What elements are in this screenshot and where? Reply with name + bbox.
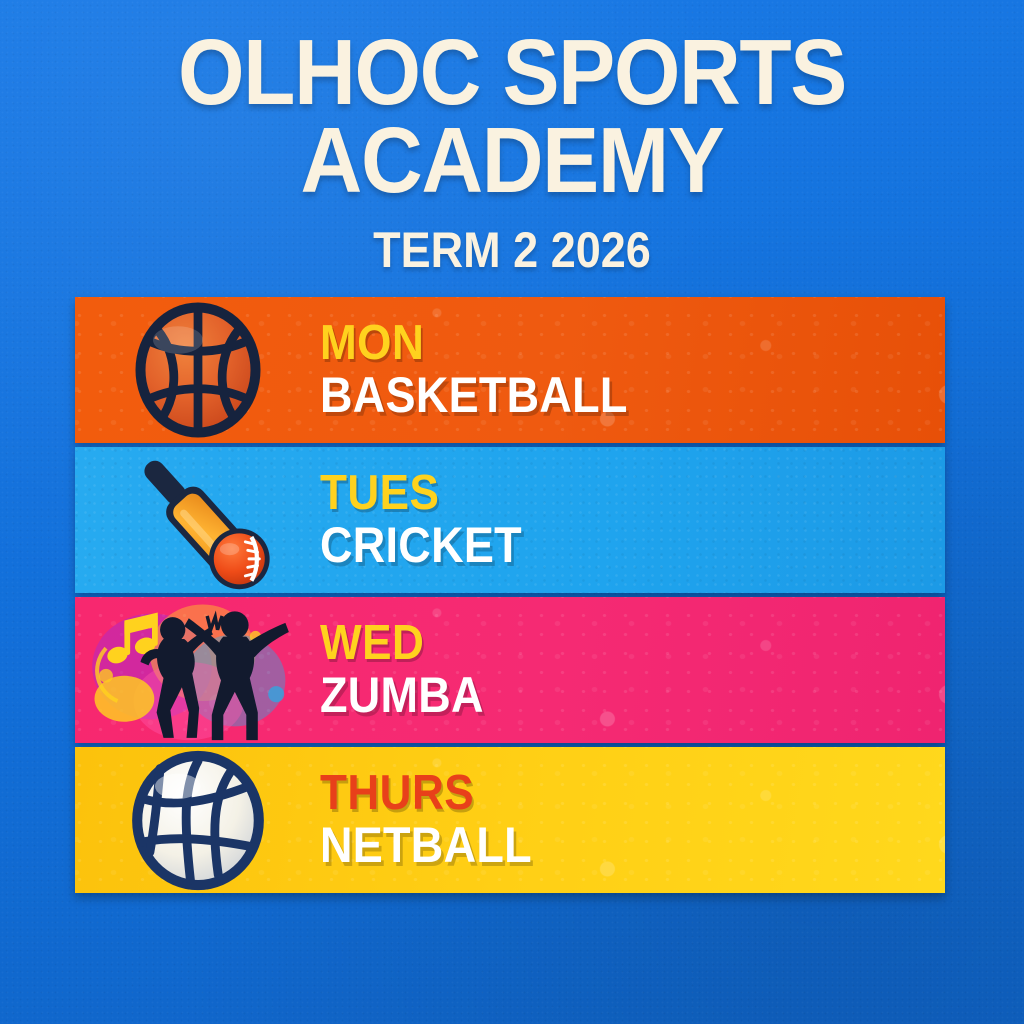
schedule-labels-monday: MON BASKETBALL	[320, 319, 662, 422]
page-title: OLHOC SPORTS ACADEMY	[41, 28, 983, 205]
sport-label: NETBALL	[320, 820, 532, 871]
schedule-list: MON BASKETBALL	[75, 297, 945, 897]
day-label: WED	[320, 619, 484, 669]
basketball-icon	[75, 297, 320, 443]
schedule-row-monday[interactable]: MON BASKETBALL	[75, 297, 945, 443]
schedule-labels-wednesday: WED ZUMBA	[320, 619, 502, 722]
cricket-bat-and-ball-icon	[75, 447, 320, 593]
sport-label: BASKETBALL	[320, 370, 628, 421]
schedule-labels-thursday: THURS NETBALL	[320, 769, 555, 872]
schedule-labels-tuesday: TUES CRICKET	[320, 469, 544, 572]
day-label: MON	[320, 319, 628, 369]
schedule-row-thursday[interactable]: THURS NETBALL	[75, 747, 945, 893]
poster-root: OLHOC SPORTS ACADEMY TERM 2 2026	[0, 0, 1024, 1024]
day-label: TUES	[320, 469, 522, 519]
sport-label: CRICKET	[320, 520, 522, 571]
page-subtitle: TERM 2 2026	[51, 221, 973, 279]
sport-label: ZUMBA	[320, 670, 484, 721]
schedule-row-tuesday[interactable]: TUES CRICKET	[75, 447, 945, 593]
dancers-icon	[75, 597, 320, 743]
poster-header: OLHOC SPORTS ACADEMY TERM 2 2026	[0, 28, 1024, 279]
day-label: THURS	[320, 769, 532, 819]
netball-icon	[75, 747, 320, 893]
schedule-row-wednesday[interactable]: WED ZUMBA	[75, 597, 945, 743]
